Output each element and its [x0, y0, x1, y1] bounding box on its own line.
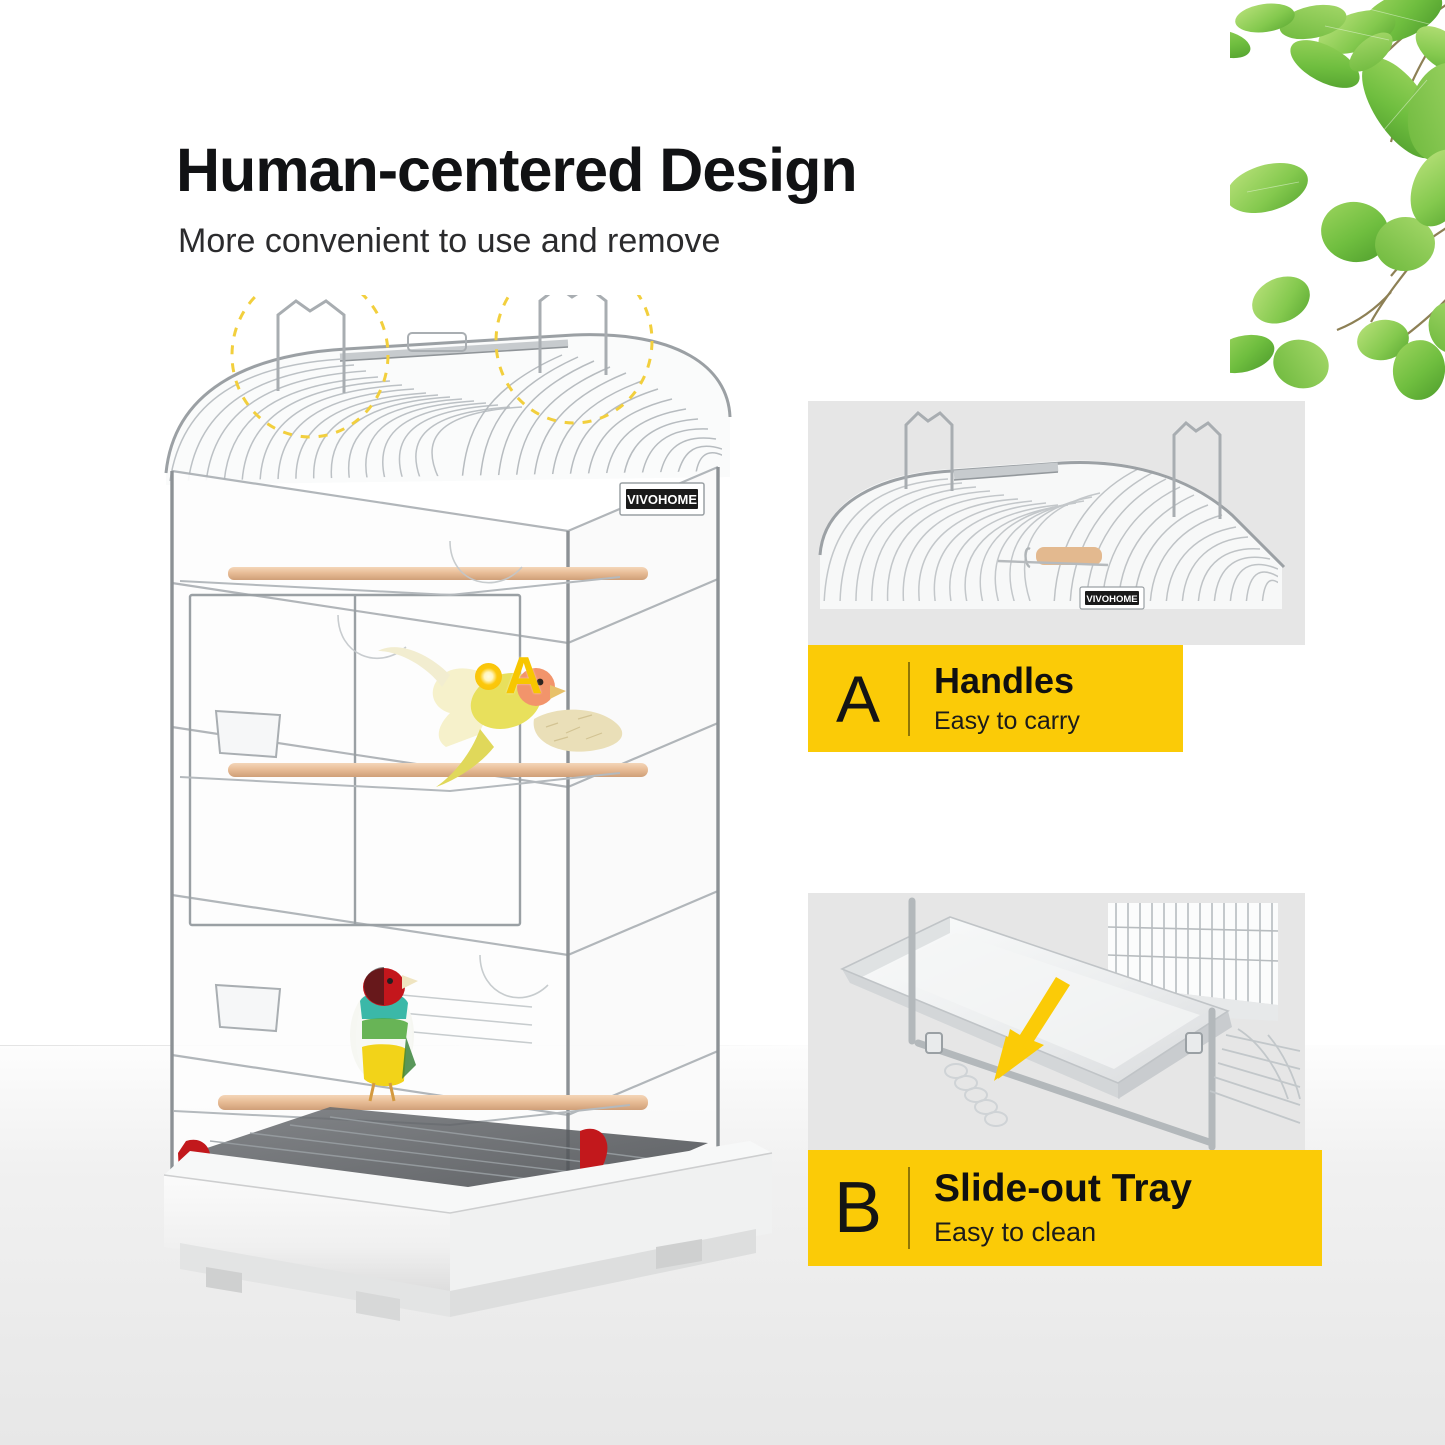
cage-body: VIVOHOME	[172, 467, 718, 1229]
feature-b-heading: Slide-out Tray	[934, 1167, 1192, 1212]
cage-roof	[166, 333, 730, 485]
feature-a-letter: A	[808, 666, 908, 732]
feature-a-subtext: Easy to carry	[934, 706, 1080, 737]
marker-a: A	[475, 650, 543, 702]
detail-panel-tray	[808, 893, 1305, 1153]
caption-divider	[908, 662, 910, 736]
svg-text:VIVOHOME: VIVOHOME	[1086, 594, 1137, 605]
brand-badge-text: VIVOHOME	[627, 492, 697, 507]
feature-b-subtext: Easy to clean	[934, 1216, 1192, 1250]
feature-a-heading: Handles	[934, 660, 1080, 701]
page-title: Human-centered Design	[176, 135, 857, 205]
infographic-canvas: Human-centered Design More convenient to…	[0, 0, 1445, 1445]
marker-a-label: A	[505, 650, 543, 702]
dot-marker-icon	[475, 663, 502, 690]
caption-divider	[908, 1167, 910, 1249]
page-subtitle: More convenient to use and remove	[178, 222, 720, 261]
feature-caption-a: A Handles Easy to carry	[808, 645, 1183, 752]
leaves-decoration	[1230, 0, 1445, 405]
feature-caption-b: B Slide-out Tray Easy to clean	[808, 1150, 1322, 1266]
detail-panel-handles: VIVOHOME	[808, 401, 1305, 645]
product-image-bird-cage: VIVOHOME	[150, 295, 790, 1330]
brand-badge: VIVOHOME	[620, 483, 704, 515]
panel-brand-badge: VIVOHOME	[1080, 587, 1144, 609]
feature-b-letter: B	[808, 1172, 908, 1244]
